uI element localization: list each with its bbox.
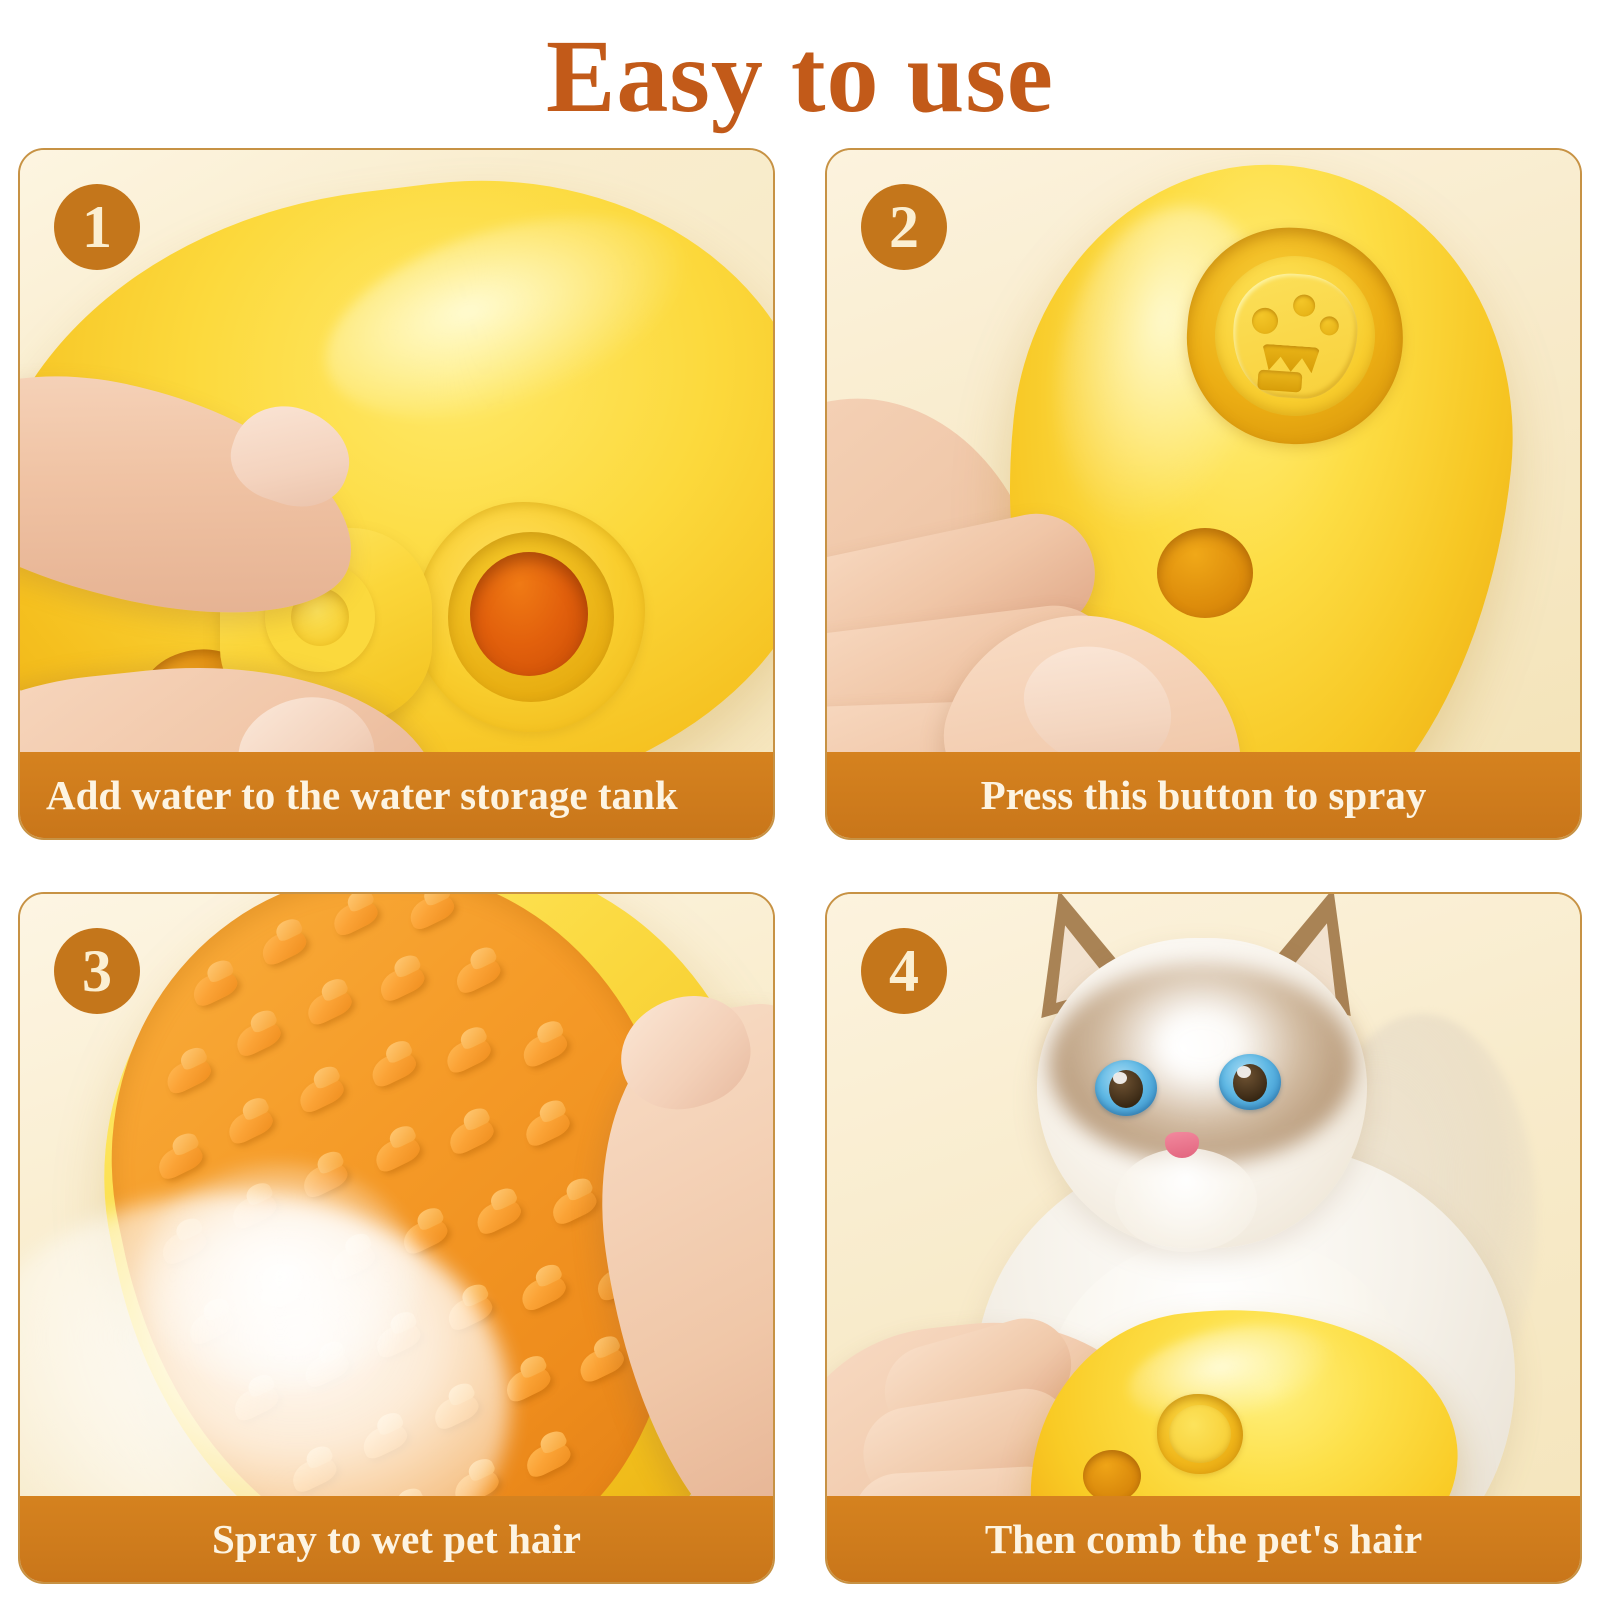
page-title: Easy to use — [0, 18, 1600, 136]
bristle — [153, 1139, 206, 1183]
step-number-badge-4: 4 — [861, 928, 947, 1014]
steam-cloud-core — [140, 1162, 420, 1392]
bristle — [521, 1437, 574, 1481]
step-4-photo: 4 — [827, 894, 1580, 1496]
bristle — [451, 953, 504, 997]
cat-color-point-mask — [1049, 964, 1355, 1164]
bristle — [472, 1194, 525, 1238]
bristle — [442, 1032, 495, 1076]
bristle — [302, 984, 355, 1028]
brush-spray-button-face — [1169, 1405, 1231, 1463]
bristle — [444, 1113, 497, 1157]
step-card-3: 3 Spray to wet pet hair — [18, 892, 775, 1584]
bristle — [517, 1270, 570, 1314]
bristle — [224, 1103, 277, 1147]
step-card-1: 1 Add water to the water storage tank — [18, 148, 775, 840]
emboss-dot-1 — [1251, 307, 1279, 335]
step-card-4: 4 Then comb the pet's hair — [825, 892, 1582, 1584]
cat-eye-glint-right — [1237, 1066, 1251, 1078]
cat-eye-right — [1219, 1054, 1281, 1110]
bristle — [518, 1026, 571, 1070]
step-caption-2: Press this button to spray — [827, 752, 1580, 838]
bristle — [295, 1072, 348, 1116]
brush-lower-port — [1083, 1450, 1141, 1496]
bristle — [405, 894, 458, 932]
bristle — [575, 1341, 628, 1385]
bristle — [520, 1106, 573, 1150]
infographic-page: Easy to use 1 Add water to the water sto… — [0, 0, 1600, 1600]
device-lower-port — [1157, 528, 1253, 618]
cat-eye-left — [1095, 1060, 1157, 1116]
step-card-2: 2 Press this button to spray — [825, 148, 1582, 840]
bristle — [188, 966, 241, 1010]
emboss-mouth — [1261, 344, 1321, 374]
step-number-badge-1: 1 — [54, 184, 140, 270]
bristle — [547, 1184, 600, 1228]
step-caption-3: Spray to wet pet hair — [20, 1496, 773, 1582]
step-caption-1: Add water to the water storage tank — [20, 752, 773, 838]
cat-eye-glint-left — [1113, 1072, 1127, 1084]
bristle — [367, 1046, 420, 1090]
cat-muzzle — [1115, 1148, 1257, 1252]
step-2-photo: 2 — [827, 150, 1580, 752]
bristle — [257, 924, 310, 968]
step-number-badge-2: 2 — [861, 184, 947, 270]
bristle — [231, 1016, 284, 1060]
bristle — [328, 895, 381, 939]
step-number-badge-3: 3 — [54, 928, 140, 1014]
bristle — [375, 961, 428, 1005]
step-caption-4: Then comb the pet's hair — [827, 1496, 1580, 1582]
bristle — [162, 1053, 215, 1097]
emboss-paw — [1257, 370, 1302, 393]
steps-grid: 1 Add water to the water storage tank — [18, 148, 1582, 1584]
step-3-photo: 3 — [20, 894, 773, 1496]
emboss-dot-2 — [1292, 294, 1315, 317]
bristle — [371, 1131, 424, 1175]
step-1-photo: 1 — [20, 150, 773, 752]
emboss-dot-3 — [1319, 316, 1339, 336]
water-tank-opening-inner — [470, 552, 588, 676]
